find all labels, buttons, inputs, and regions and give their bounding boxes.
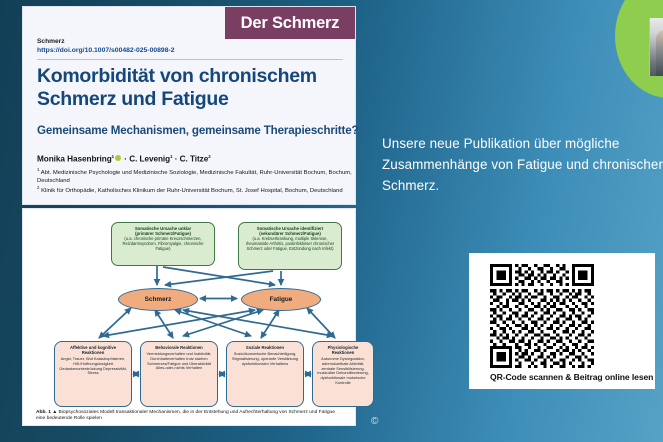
author-1: Monika Hasenbring: [37, 155, 112, 164]
figure-caption: Abb. 1 ▲ Biopsychosoziales Modell transa…: [36, 410, 336, 423]
author-1-sup: 1: [112, 154, 114, 159]
green-circle-decoration: [615, 0, 663, 98]
promo-line-1: Unsere neue Publikation über mögliche: [382, 133, 663, 154]
reaction-3-body: Sozioökonomische Benachteiligung, Stigma…: [230, 352, 300, 366]
author-3: · C. Titze: [173, 155, 209, 164]
doi-link[interactable]: https://doi.org/10.1007/s00482-025-00898…: [37, 47, 175, 54]
reaction-2-title-1: Behaviorale Reaktionen: [144, 345, 214, 350]
reaction-2-body: Vermeidungsverhalten und Inaktivität, Du…: [144, 352, 214, 371]
orcid-icon[interactable]: [115, 155, 121, 161]
promo-text: Unsere neue Publikation über mögliche Zu…: [382, 133, 663, 196]
figure-caption-text: Biopsychosoziales Modell transaktionaler…: [36, 410, 335, 421]
copyright-icon: ©: [371, 416, 378, 427]
paper-title-line-1: Komorbidität von chronischem: [37, 65, 347, 88]
affiliation-1: 1 Abt. Medizinische Psychologie und Medi…: [37, 166, 355, 185]
paper-subtitle: Gemeinsame Mechanismen, gemeinsame Thera…: [37, 124, 349, 137]
journal-name: Schmerz: [37, 38, 65, 45]
journal-badge: Der Schmerz: [225, 7, 355, 39]
author-3-sup: 2: [208, 154, 210, 159]
affiliation-2-text: Klinik für Orthopädie, Katholisches Klin…: [41, 188, 343, 194]
promo-line-3: Schmerz.: [382, 175, 663, 196]
figure-caption-marker: ▲: [52, 410, 57, 415]
qr-code-svg: [490, 264, 594, 368]
qr-code-image[interactable]: [490, 264, 594, 368]
author-2: · C. Levenig: [122, 155, 170, 164]
reaction-box-behavioral: Behaviorale Reaktionen Vermeidungsverhal…: [140, 341, 218, 407]
reaction-4-title-2: Reaktionen: [316, 350, 370, 355]
figure-card: Somatische Ursache unklar (primärer Schm…: [22, 208, 356, 426]
reaction-box-physiological: Physiologische Reaktionen Autonome Dysre…: [312, 341, 374, 407]
reaction-1-body: Angst, Trauer, Wut Katastrophisieren, Hi…: [58, 357, 128, 376]
reaction-box-social: Soziale Reaktionen Sozioökonomische Bena…: [226, 341, 304, 407]
promo-line-2: Zusammenhänge von Fatigue und chronische…: [382, 154, 663, 175]
author-list: Monika Hasenbring1 · C. Levenig1 · C. Ti…: [37, 154, 349, 164]
affiliation-1-text: Abt. Medizinische Psychologie und Medizi…: [37, 170, 352, 184]
qr-code-caption: QR-Code scannen & Beitrag online lesen: [490, 372, 650, 382]
node-fatigue: Fatigue: [241, 288, 321, 311]
affiliation-2: 2 Klinik für Orthopädie, Katholisches Kl…: [37, 184, 355, 196]
green-box-2-body: (u.a. Krebserkrankung, multiple Sklerose…: [242, 237, 338, 252]
figure-caption-label: Abb. 1: [36, 410, 51, 415]
author-photo: [649, 18, 663, 76]
qr-code-card[interactable]: QR-Code scannen & Beitrag online lesen: [469, 253, 655, 389]
reaction-1-title-2: Reaktionen: [58, 350, 128, 355]
green-box-primary: Somatische Ursache unklar (primärer Schm…: [111, 222, 215, 266]
green-box-secondary: Somatische Ursache identifiziert (sekund…: [238, 222, 342, 270]
affiliation-1-sup: 1: [37, 167, 39, 172]
page-title: Komorbidität von chronischem Schmerz und…: [37, 65, 347, 111]
paper-title-line-2: Schmerz und Fatigue: [37, 88, 347, 111]
green-box-1-body: (u.a. chronische primäre Kreuzschmerzen,…: [115, 237, 211, 252]
affiliation-2-sup: 2: [37, 185, 39, 190]
node-schmerz: Schmerz: [118, 288, 198, 311]
reaction-4-body: Autonome Dysregulation, adrenokortikale …: [316, 357, 370, 386]
reaction-3-title-1: Soziale Reaktionen: [230, 345, 300, 350]
paper-header-card: Der Schmerz Schmerz https://doi.org/10.1…: [22, 6, 356, 205]
reaction-box-affective-cognitive: Affektive und kognitive Reaktionen Angst…: [54, 341, 132, 407]
header-divider: [37, 59, 343, 60]
